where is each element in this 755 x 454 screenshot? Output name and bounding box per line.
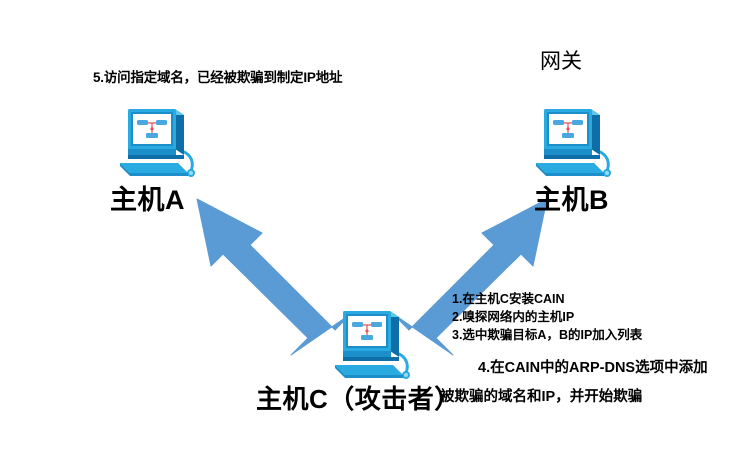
attack-step-3: 3.选中欺骗目标A，B的IP加入列表 (452, 327, 642, 345)
attack-step-4-line-1: 4.在CAIN中的ARP-DNS选项中添加 (478, 356, 708, 377)
attack-step-2: 2.嗅探网络内的主机IP (452, 309, 642, 327)
diagram-canvas: 5.访问指定域名，已经被欺骗到制定IP地址 网关 (0, 0, 755, 454)
computer-icon-host-a (112, 103, 202, 181)
host-c-label: 主机C（攻击者） (256, 379, 461, 416)
attack-steps-list: 1.在主机C安装CAIN 2.嗅探网络内的主机IP 3.选中欺骗目标A，B的IP… (452, 291, 642, 344)
gateway-label: 网关 (540, 45, 582, 75)
host-a-label: 主机A (110, 178, 185, 217)
attack-step-4-line-2: 被欺骗的域名和IP，并开始欺骗 (440, 385, 642, 406)
step-5-note: 5.访问指定域名，已经被欺骗到制定IP地址 (93, 66, 342, 86)
attack-step-1: 1.在主机C安装CAIN (452, 291, 642, 309)
computer-icon-host-c (327, 305, 417, 383)
computer-icon-host-b (528, 103, 618, 181)
host-b-label: 主机B (534, 178, 609, 217)
